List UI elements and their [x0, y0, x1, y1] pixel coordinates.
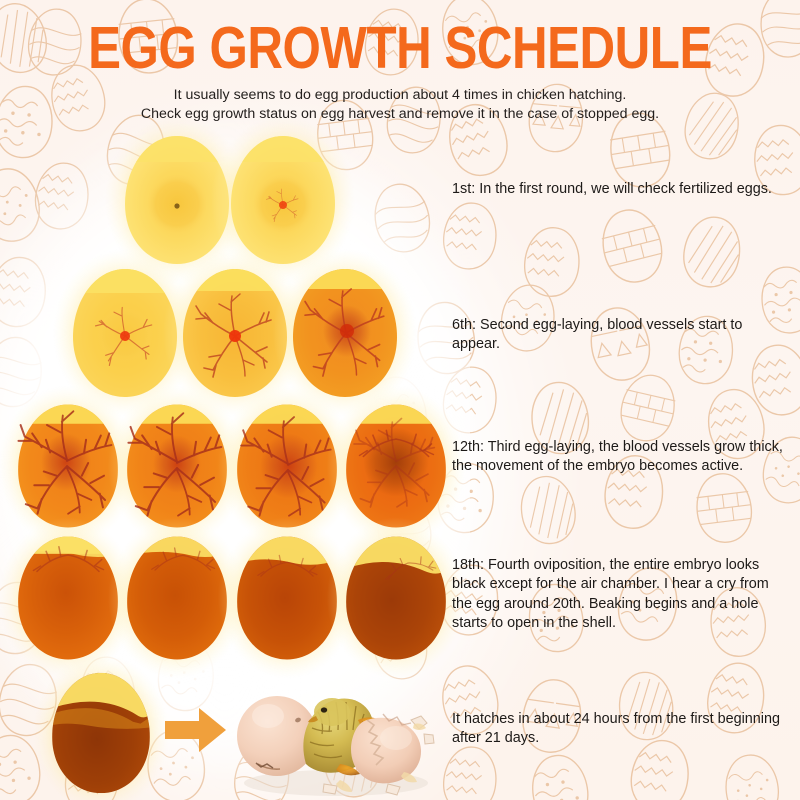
caption-stage-6th: 6th: Second egg-laying, blood vessels st… — [452, 316, 788, 355]
right-arrow-icon — [165, 706, 227, 754]
caption-stage-12th: 12th: Third egg-laying, the blood vessel… — [452, 438, 788, 477]
subtitle-line-1: It usually seems to do egg production ab… — [0, 86, 800, 105]
subtitle-line-2: Check egg growth status on egg harvest a… — [0, 105, 800, 124]
caption-stage-18th: 18th: Fourth oviposition, the entire emb… — [452, 556, 788, 634]
caption-stage-1st: 1st: In the first round, we will check f… — [452, 180, 788, 199]
caption-stage-hatch: It hatches in about 24 hours from the fi… — [452, 710, 788, 749]
page-title: EGG GROWTH SCHEDULE — [28, 14, 772, 82]
poster: EGG GROWTH SCHEDULE It usually seems to … — [0, 0, 800, 800]
page-subtitle: It usually seems to do egg production ab… — [0, 86, 800, 123]
hatching-chick-photo — [228, 668, 440, 798]
